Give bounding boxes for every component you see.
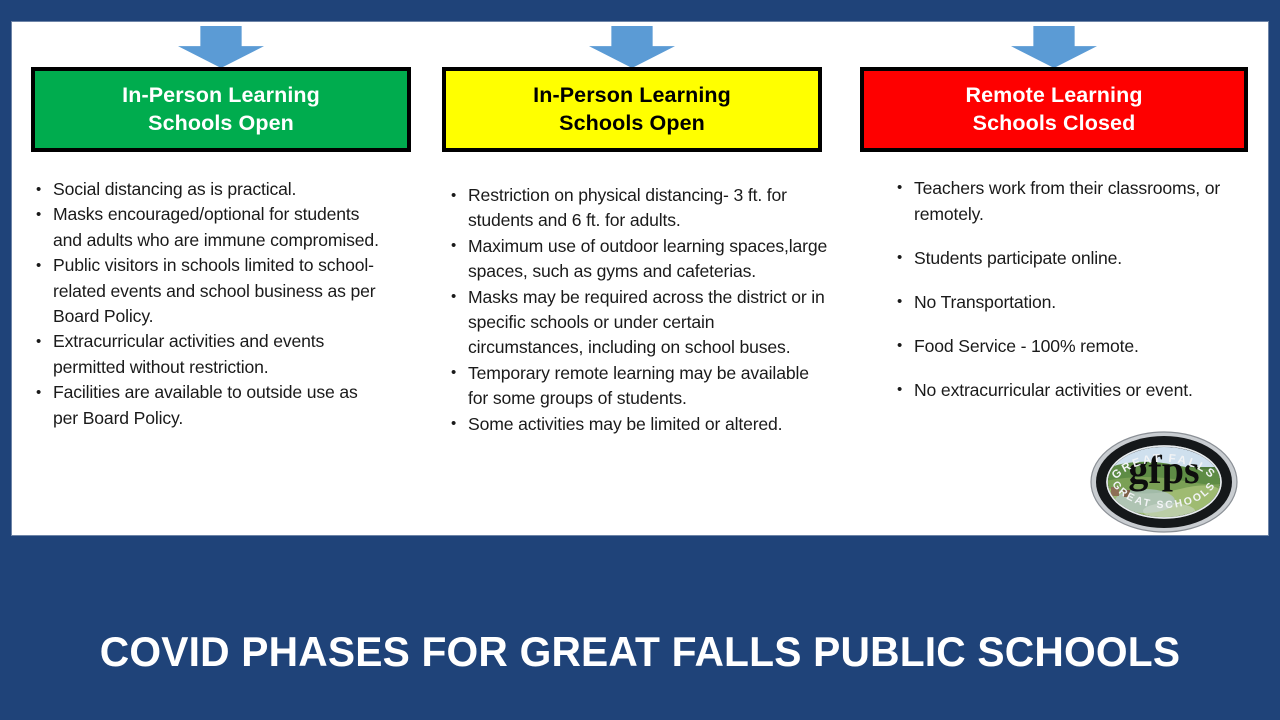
list-item: Students participate online. (896, 245, 1254, 271)
list-item: Social distancing as is practical. (35, 177, 381, 202)
phase-banner-yellow: In-Person Learning Schools Open (442, 67, 822, 152)
list-item: Extracurricular activities and events pe… (35, 329, 381, 380)
banner-line-2: Schools Open (559, 110, 705, 138)
down-arrow-icon-yellow (430, 26, 834, 70)
list-item: Restriction on physical distancing- 3 ft… (450, 183, 828, 234)
list-item: Maximum use of outdoor learning spaces,l… (450, 234, 828, 285)
down-arrow-icon-green (19, 26, 423, 70)
banner-line-1: In-Person Learning (122, 82, 320, 110)
list-item: Teachers work from their classrooms, or … (896, 175, 1254, 227)
list-item: No extracurricular activities or event. (896, 377, 1254, 403)
list-item: Masks may be required across the distric… (450, 285, 828, 361)
list-item: Some activities may be limited or altere… (450, 412, 828, 437)
phase-banner-red: Remote Learning Schools Closed (860, 67, 1248, 152)
phase-column-green: In-Person Learning Schools Open Social d… (19, 22, 423, 535)
banner-line-1: Remote Learning (965, 82, 1142, 110)
banner-line-2: Schools Open (148, 110, 294, 138)
down-arrow-icon (178, 26, 264, 68)
list-item: Masks encouraged/optional for students a… (35, 202, 381, 253)
list-item: Facilities are available to outside use … (35, 380, 381, 431)
list-item: Public visitors in schools limited to sc… (35, 253, 381, 329)
down-arrow-icon-red (848, 26, 1260, 70)
phase-column-yellow: In-Person Learning Schools Open Restrict… (430, 22, 834, 535)
phase-bullet-list-green: Social distancing as is practical. Masks… (35, 177, 381, 431)
phase-bullet-list-yellow: Restriction on physical distancing- 3 ft… (450, 183, 828, 437)
down-arrow-icon (1011, 26, 1097, 68)
phase-bullet-list-red: Teachers work from their classrooms, or … (896, 175, 1254, 403)
down-arrow-icon (589, 26, 675, 68)
list-item: Temporary remote learning may be availab… (450, 361, 828, 412)
phase-banner-green: In-Person Learning Schools Open (31, 67, 411, 152)
page-title: COVID PHASES FOR GREAT FALLS PUBLIC SCHO… (19, 628, 1261, 676)
gfps-district-seal-logo: gfps GREAT FALLS GREAT SCHOOLS (1085, 427, 1243, 537)
list-item: No Transportation. (896, 289, 1254, 315)
list-item: Food Service - 100% remote. (896, 333, 1254, 359)
content-panel: In-Person Learning Schools Open Social d… (12, 22, 1268, 535)
banner-line-2: Schools Closed (973, 110, 1136, 138)
banner-line-1: In-Person Learning (533, 82, 731, 110)
